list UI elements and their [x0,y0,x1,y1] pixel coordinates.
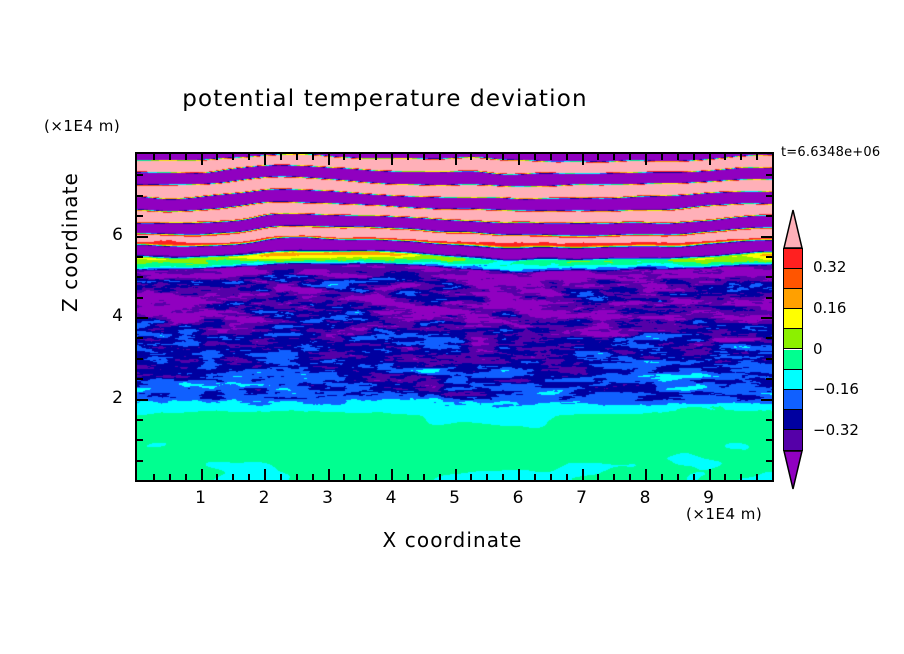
colorbar-under-arrow-icon [783,450,803,490]
x-tick-minor [740,474,742,480]
y-tick-minor-right [761,399,772,401]
x-tick-minor [693,474,695,480]
x-tick-minor [439,474,441,480]
x-tick-minor-top [216,154,218,160]
x-tick-minor [375,474,377,480]
contour-plot-area [135,152,774,482]
y-tick-minor-right [766,419,772,421]
colorbar-tick-label: 0.32 [813,258,846,276]
x-tick-label: 7 [562,488,602,508]
x-tick-label: 6 [498,488,538,508]
colorbar-over-arrow-icon [783,209,803,249]
x-tick-minor-top [756,154,758,160]
x-tick-minor [518,469,520,480]
y-tick-minor-right [766,358,772,360]
colorbar-tick-label: −0.32 [813,421,859,439]
y-tick-minor-right [766,215,772,217]
y-tick-minor [137,297,143,299]
x-tick-label: 5 [435,488,475,508]
x-tick-minor [216,474,218,480]
x-tick-minor [661,474,663,480]
x-tick-minor [677,474,679,480]
x-tick-minor-top [248,154,250,160]
y-tick-minor-right [766,337,772,339]
x-tick-minor-top [613,154,615,160]
y-tick-minor-right [766,174,772,176]
x-tick-minor-top [296,154,298,160]
x-tick-minor [613,474,615,480]
x-tick-minor [185,474,187,480]
colorbar-band [784,410,802,430]
y-tick-label: 2 [83,388,123,408]
x-tick-minor-top [232,154,234,160]
x-tick-minor-top [550,154,552,160]
x-tick-minor-top [693,154,695,160]
y-tick-minor-right [766,378,772,380]
x-axis-title: X coordinate [135,528,770,552]
colorbar-tick-label: −0.16 [813,380,859,398]
x-tick-minor [391,469,393,480]
x-tick-minor [248,474,250,480]
colorbar-band [784,249,802,269]
x-tick-minor-top [470,154,472,160]
figure-canvas: potential temperature deviation (×1E4 m)… [0,0,904,654]
x-tick-minor [407,474,409,480]
y-axis-title: Z coordinate [58,157,82,327]
x-tick-minor [169,474,171,480]
y-tick-minor-right [766,256,772,258]
x-tick-minor [312,474,314,480]
x-tick-minor-top [328,154,330,165]
x-tick-label: 1 [181,488,221,508]
z-units-label: (×1E4 m) [44,117,120,135]
y-tick-minor [137,174,143,176]
x-tick-label: 2 [244,488,284,508]
page-title: potential temperature deviation [0,86,770,112]
x-tick-minor [486,474,488,480]
y-tick-minor [137,256,143,258]
y-tick-minor-right [761,317,772,319]
y-tick-minor-right [766,297,772,299]
colorbar [783,209,803,490]
y-tick-minor [137,460,143,462]
y-tick-minor [137,399,148,401]
x-tick-minor-top [455,154,457,165]
x-tick-minor [502,474,504,480]
y-tick-minor [137,439,143,441]
x-tick-minor [232,474,234,480]
x-tick-minor [423,474,425,480]
x-tick-minor-top [439,154,441,160]
x-tick-minor-top [407,154,409,160]
y-tick-label: 4 [83,306,123,326]
x-tick-minor-top [502,154,504,160]
y-tick-minor [137,276,143,278]
x-tick-minor [756,474,758,480]
x-tick-minor [582,469,584,480]
colorbar-band [784,309,802,329]
x-tick-minor-top [740,154,742,160]
x-tick-label: 8 [625,488,665,508]
x-tick-minor-top [677,154,679,160]
x-tick-minor [280,474,282,480]
x-tick-minor-top [359,154,361,160]
x-tick-minor-top [423,154,425,160]
colorbar-band [784,289,802,309]
colorbar-tick-label: 0.16 [813,299,846,317]
colorbar-bands [783,248,803,451]
colorbar-band [784,370,802,390]
x-tick-minor-top [582,154,584,165]
x-tick-minor-top [629,154,631,160]
x-tick-minor-top [566,154,568,160]
colorbar-tick-label: 0 [813,340,823,358]
y-tick-minor-right [766,195,772,197]
x-tick-minor-top [153,154,155,160]
y-tick-minor [137,358,143,360]
x-tick-minor-top [169,154,171,160]
x-tick-minor-top [264,154,266,165]
contour-field [137,154,772,480]
colorbar-band [784,329,802,349]
y-tick-minor [137,337,143,339]
x-tick-minor [550,474,552,480]
x-tick-minor-top [709,154,711,165]
x-tick-minor-top [534,154,536,160]
x-tick-label: 9 [689,488,729,508]
x-tick-minor [566,474,568,480]
x-tick-minor [709,469,711,480]
x-tick-minor-top [375,154,377,160]
y-tick-minor-right [766,276,772,278]
x-tick-minor [264,469,266,480]
colorbar-band [784,350,802,370]
x-tick-minor-top [185,154,187,160]
x-tick-minor-top [343,154,345,160]
x-tick-minor-top [645,154,647,165]
x-tick-minor [455,469,457,480]
x-tick-minor-top [597,154,599,160]
y-tick-minor [137,195,143,197]
y-tick-minor [137,236,148,238]
x-tick-minor-top [724,154,726,160]
x-tick-minor [359,474,361,480]
x-tick-minor [629,474,631,480]
x-tick-label: 4 [371,488,411,508]
x-tick-minor [534,474,536,480]
x-tick-minor [328,469,330,480]
x-tick-minor [201,469,203,480]
x-tick-minor-top [312,154,314,160]
time-annotation: t=6.6348e+06 [781,145,880,160]
x-tick-minor-top [391,154,393,165]
x-tick-minor-top [518,154,520,165]
colorbar-band [784,269,802,289]
y-tick-minor [137,419,143,421]
x-tick-minor [296,474,298,480]
y-tick-label: 6 [83,225,123,245]
x-tick-label: 3 [308,488,348,508]
y-tick-minor-right [761,236,772,238]
x-tick-minor [153,474,155,480]
x-tick-minor [470,474,472,480]
y-tick-minor-right [766,460,772,462]
x-tick-minor-top [661,154,663,160]
colorbar-band [784,430,802,450]
colorbar-band [784,390,802,410]
y-tick-minor [137,378,143,380]
x-tick-minor-top [201,154,203,165]
y-tick-minor-right [766,439,772,441]
y-tick-minor [137,317,148,319]
x-tick-minor [724,474,726,480]
x-tick-minor [645,469,647,480]
x-tick-minor-top [486,154,488,160]
y-tick-minor [137,215,143,217]
x-tick-minor [597,474,599,480]
x-tick-minor-top [280,154,282,160]
x-tick-minor [343,474,345,480]
